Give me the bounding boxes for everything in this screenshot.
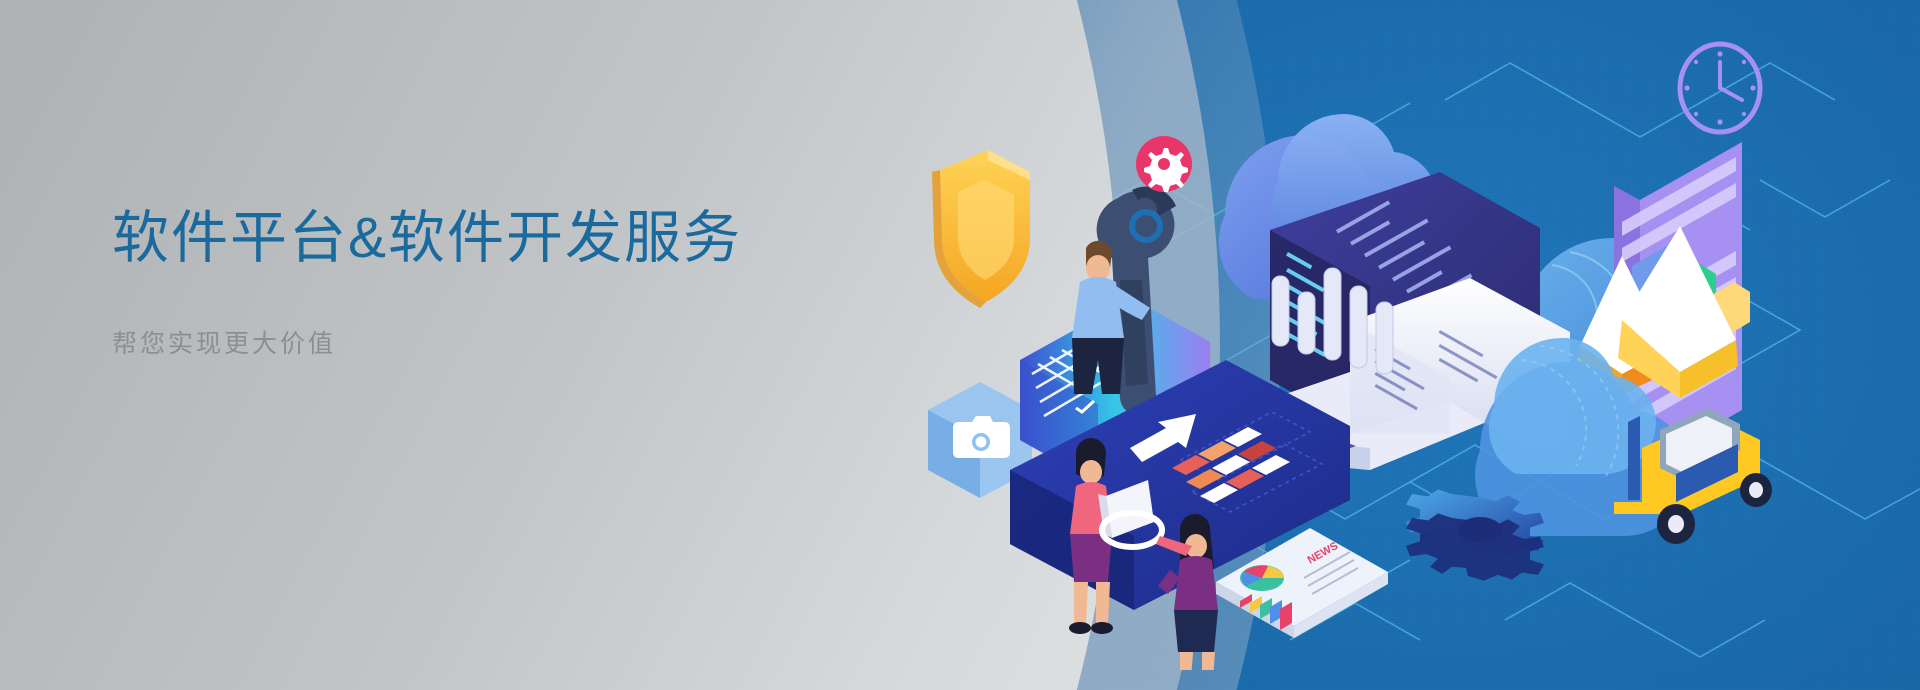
news-pie-chart xyxy=(1240,565,1284,591)
hero-banner: 软件平台&软件开发服务 帮您实现更大价值 xyxy=(0,0,1920,690)
page-title: 软件平台&软件开发服务 xyxy=(112,206,812,272)
clock-icon xyxy=(1680,44,1760,132)
shield-icon xyxy=(932,150,1030,308)
hero-text-block: 软件平台&软件开发服务 帮您实现更大价值 xyxy=(112,206,812,360)
hero-illustration: NEWS xyxy=(880,30,1920,670)
gear-badge-icon xyxy=(1136,136,1192,192)
page-subtitle: 帮您实现更大价值 xyxy=(112,324,812,360)
